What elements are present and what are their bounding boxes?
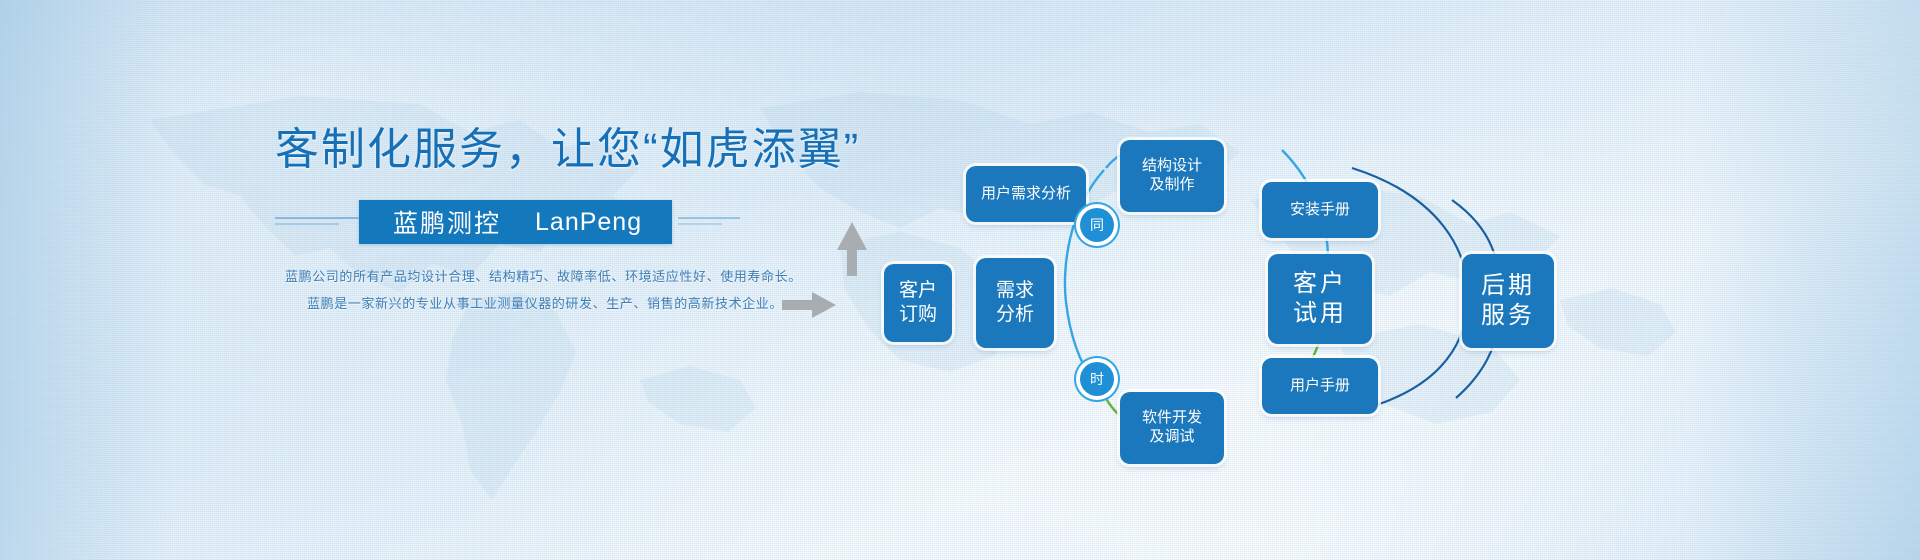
brand-bar: 蓝鹏测控 LanPeng: [359, 200, 672, 244]
flow-badge-same: 同: [1080, 208, 1114, 242]
brand-bar-row: 蓝鹏测控 LanPeng: [275, 200, 915, 244]
flow-node-install-manual[interactable]: 安装手册: [1262, 182, 1378, 238]
page-title: 客制化服务，让您“如虎添翼”: [275, 128, 915, 172]
promo-banner: 客制化服务，让您“如虎添翼” 蓝鹏测控 LanPeng 蓝鹏公司的所有产品均设计…: [0, 0, 1920, 560]
flow-badge-time: 时: [1080, 362, 1114, 396]
description-line-1: 蓝鹏公司的所有产品均设计合理、结构精巧、故障率低、环境适应性好、使用寿命长。: [285, 266, 915, 285]
brand-name-en: LanPeng: [535, 208, 642, 237]
flow-node-requirement-analysis[interactable]: 需求 分析: [976, 258, 1054, 348]
description-line-2: 蓝鹏是一家新兴的专业从事工业测量仪器的研发、生产、销售的高新技术企业。: [285, 293, 915, 312]
flow-node-customer-order[interactable]: 客户 订购: [884, 264, 952, 342]
brand-name-cn: 蓝鹏测控: [393, 204, 501, 240]
flow-node-customer-trial[interactable]: 客户 试用: [1268, 254, 1372, 344]
brand-left-lines-decoration: [275, 212, 359, 232]
flow-node-user-manual[interactable]: 用户手册: [1262, 358, 1378, 414]
flow-node-after-service[interactable]: 后期 服务: [1462, 254, 1554, 348]
flow-node-user-requirement-analysis[interactable]: 用户需求分析: [966, 166, 1086, 222]
flow-node-software-development[interactable]: 软件开发 及调试: [1120, 392, 1224, 464]
flow-node-structure-design[interactable]: 结构设计 及制作: [1120, 140, 1224, 212]
description-block: 蓝鹏公司的所有产品均设计合理、结构精巧、故障率低、环境适应性好、使用寿命长。 蓝…: [275, 266, 915, 312]
headline-block: 客制化服务，让您“如虎添翼” 蓝鹏测控 LanPeng 蓝鹏公司的所有产品均设计…: [275, 128, 915, 320]
brand-right-lines-decoration: [672, 212, 742, 232]
